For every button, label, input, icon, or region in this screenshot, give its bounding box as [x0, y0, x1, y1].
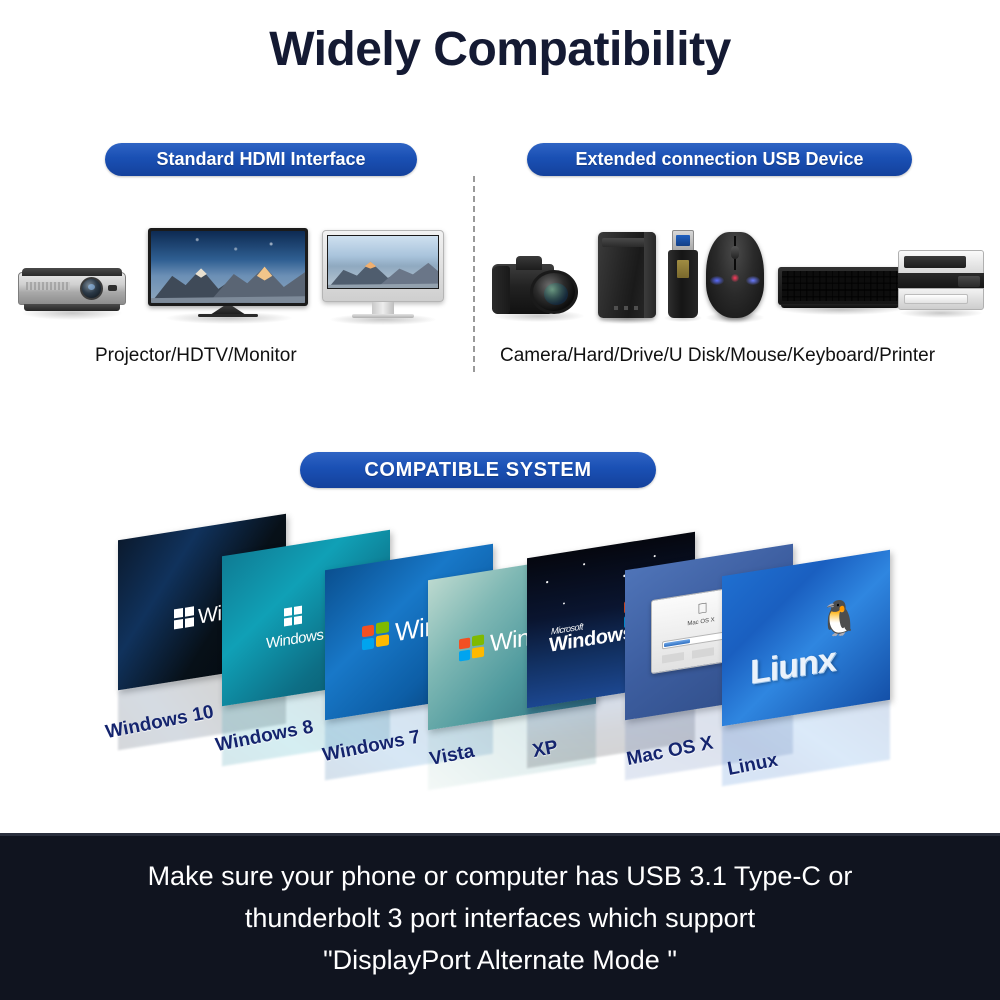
os-card-brand-text: Liunx — [750, 640, 836, 693]
hdtv-image — [148, 228, 308, 318]
projector-vent — [26, 282, 70, 290]
hard-drive-indicator-leds — [614, 306, 644, 310]
camera-grip — [492, 266, 510, 314]
camera-viewfinder — [516, 256, 542, 270]
camera-lens-icon — [530, 270, 578, 314]
caption-usb-devices: Camera/Hard/Drive/U Disk/Mouse/Keyboard/… — [500, 345, 935, 367]
hdtv-frame — [148, 228, 308, 306]
monitor-stand — [372, 302, 394, 314]
projector-feet — [24, 304, 120, 311]
windows-orb-icon — [458, 633, 486, 663]
printer-control-panel — [958, 276, 980, 287]
footer-line-3: "DisplayPort Alternate Mode " — [323, 939, 677, 981]
os-card-art-linux: 🐧 Liunx — [722, 550, 890, 727]
os-card-deck: Windows Windows 10 Windows 8 Windows 8 W… — [0, 505, 1000, 805]
badge-standard-hdmi-interface: Standard HDMI Interface — [105, 143, 417, 176]
keyboard-image — [778, 267, 902, 311]
monitor-base — [352, 314, 414, 318]
apple-logo-icon:  — [696, 600, 709, 617]
section-divider — [473, 176, 475, 372]
badge-extended-connection-usb-device: Extended connection USB Device — [527, 143, 912, 176]
keyboard-body — [778, 267, 902, 305]
mouse-rgb-logo-light — [731, 274, 739, 282]
mouse-rgb-light-left — [710, 276, 724, 285]
page-title: Widely Compatibility — [0, 22, 1000, 77]
caption-hdmi-devices: Projector/HDTV/Monitor — [95, 345, 297, 367]
usb-flash-drive-image — [668, 230, 698, 318]
windows-orb-icon — [361, 620, 391, 653]
monitor-image — [322, 230, 444, 320]
footer-line-2: thunderbolt 3 port interfaces which supp… — [245, 897, 755, 939]
hdtv-screen — [151, 231, 305, 303]
footer-note: Make sure your phone or computer has USB… — [0, 833, 1000, 1000]
windows-logo-icon — [284, 606, 302, 627]
printer-scanner-lid — [898, 250, 984, 274]
projector-image — [18, 268, 126, 312]
mouse-scroll-wheel — [731, 246, 739, 259]
mouse-image — [706, 232, 764, 318]
projector-top — [22, 268, 122, 276]
keyboard-base — [781, 304, 899, 308]
tux-penguin-icon: 🐧 — [818, 598, 860, 639]
projector-knob — [108, 285, 117, 291]
monitor-frame — [322, 230, 444, 302]
printer-paper-tray — [904, 294, 968, 304]
keyboard-keys — [782, 271, 898, 301]
badge-compatible-system: COMPATIBLE SYSTEM — [300, 452, 656, 488]
mouse-rgb-light-right — [746, 276, 760, 285]
hard-drive-image — [598, 232, 656, 318]
monitor-screen — [327, 235, 439, 289]
printer-lid-panel — [904, 256, 966, 268]
projector-lens-icon — [80, 277, 103, 300]
hdtv-wallpaper-mountains-icon — [151, 261, 305, 303]
usb-flash-drive-label — [677, 260, 689, 278]
windows-logo-icon — [174, 606, 194, 629]
monitor-wallpaper-mountains-icon — [328, 256, 438, 288]
usb-connector-icon — [672, 230, 694, 252]
hard-drive-side-panel — [644, 232, 656, 318]
printer-image — [898, 250, 984, 314]
hdtv-base — [198, 314, 258, 317]
camera-image — [492, 252, 584, 318]
footer-line-1: Make sure your phone or computer has USB… — [148, 855, 853, 897]
